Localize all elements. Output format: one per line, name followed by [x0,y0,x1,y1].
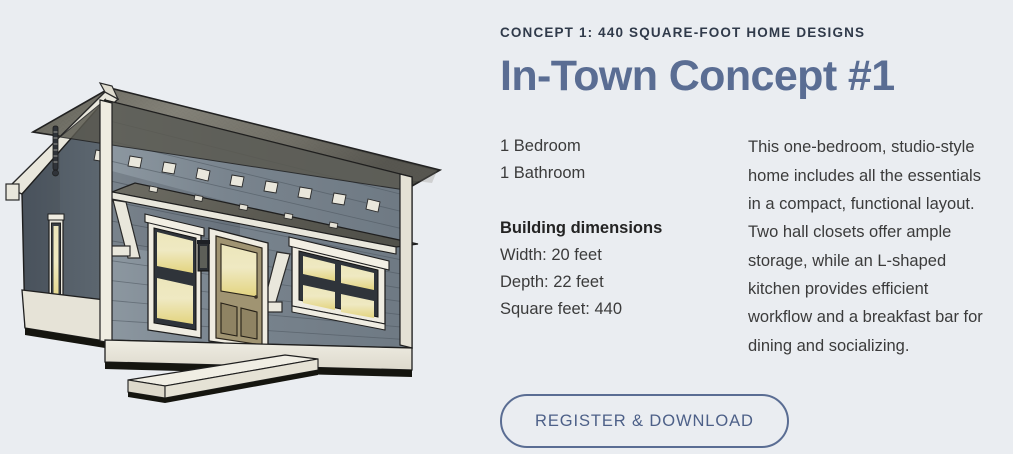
eyebrow-label: CONCEPT 1: 440 SQUARE-FOOT HOME DESIGNS [500,25,988,40]
spec-bedroom: 1 Bedroom [500,133,748,160]
spec-square-feet: Square feet: 440 [500,296,748,323]
register-and-download-button[interactable]: REGISTER & DOWNLOAD [500,394,789,448]
concept-card: CONCEPT 1: 440 SQUARE-FOOT HOME DESIGNS … [0,0,1013,454]
description-text: This one-bedroom, studio-style home incl… [748,133,988,360]
house-illustration [0,0,470,454]
window-left [145,214,204,338]
spec-depth: Depth: 22 feet [500,269,748,296]
building-dimensions-heading: Building dimensions [500,215,748,242]
detail-columns: 1 Bedroom 1 Bathroom Building dimensions… [500,133,988,360]
description-column: This one-bedroom, studio-style home incl… [748,133,988,360]
house-illustration-pane [0,0,470,454]
content-pane: CONCEPT 1: 440 SQUARE-FOOT HOME DESIGNS … [470,0,1013,454]
cta-wrapper: REGISTER & DOWNLOAD [500,394,988,448]
page-title: In-Town Concept #1 [500,54,988,99]
spec-width: Width: 20 feet [500,242,748,269]
specs-column: 1 Bedroom 1 Bathroom Building dimensions… [500,133,748,360]
sconce-light [197,240,210,271]
spec-bathroom: 1 Bathroom [500,160,748,187]
front-door [209,228,268,349]
specs-spacer [500,187,748,215]
